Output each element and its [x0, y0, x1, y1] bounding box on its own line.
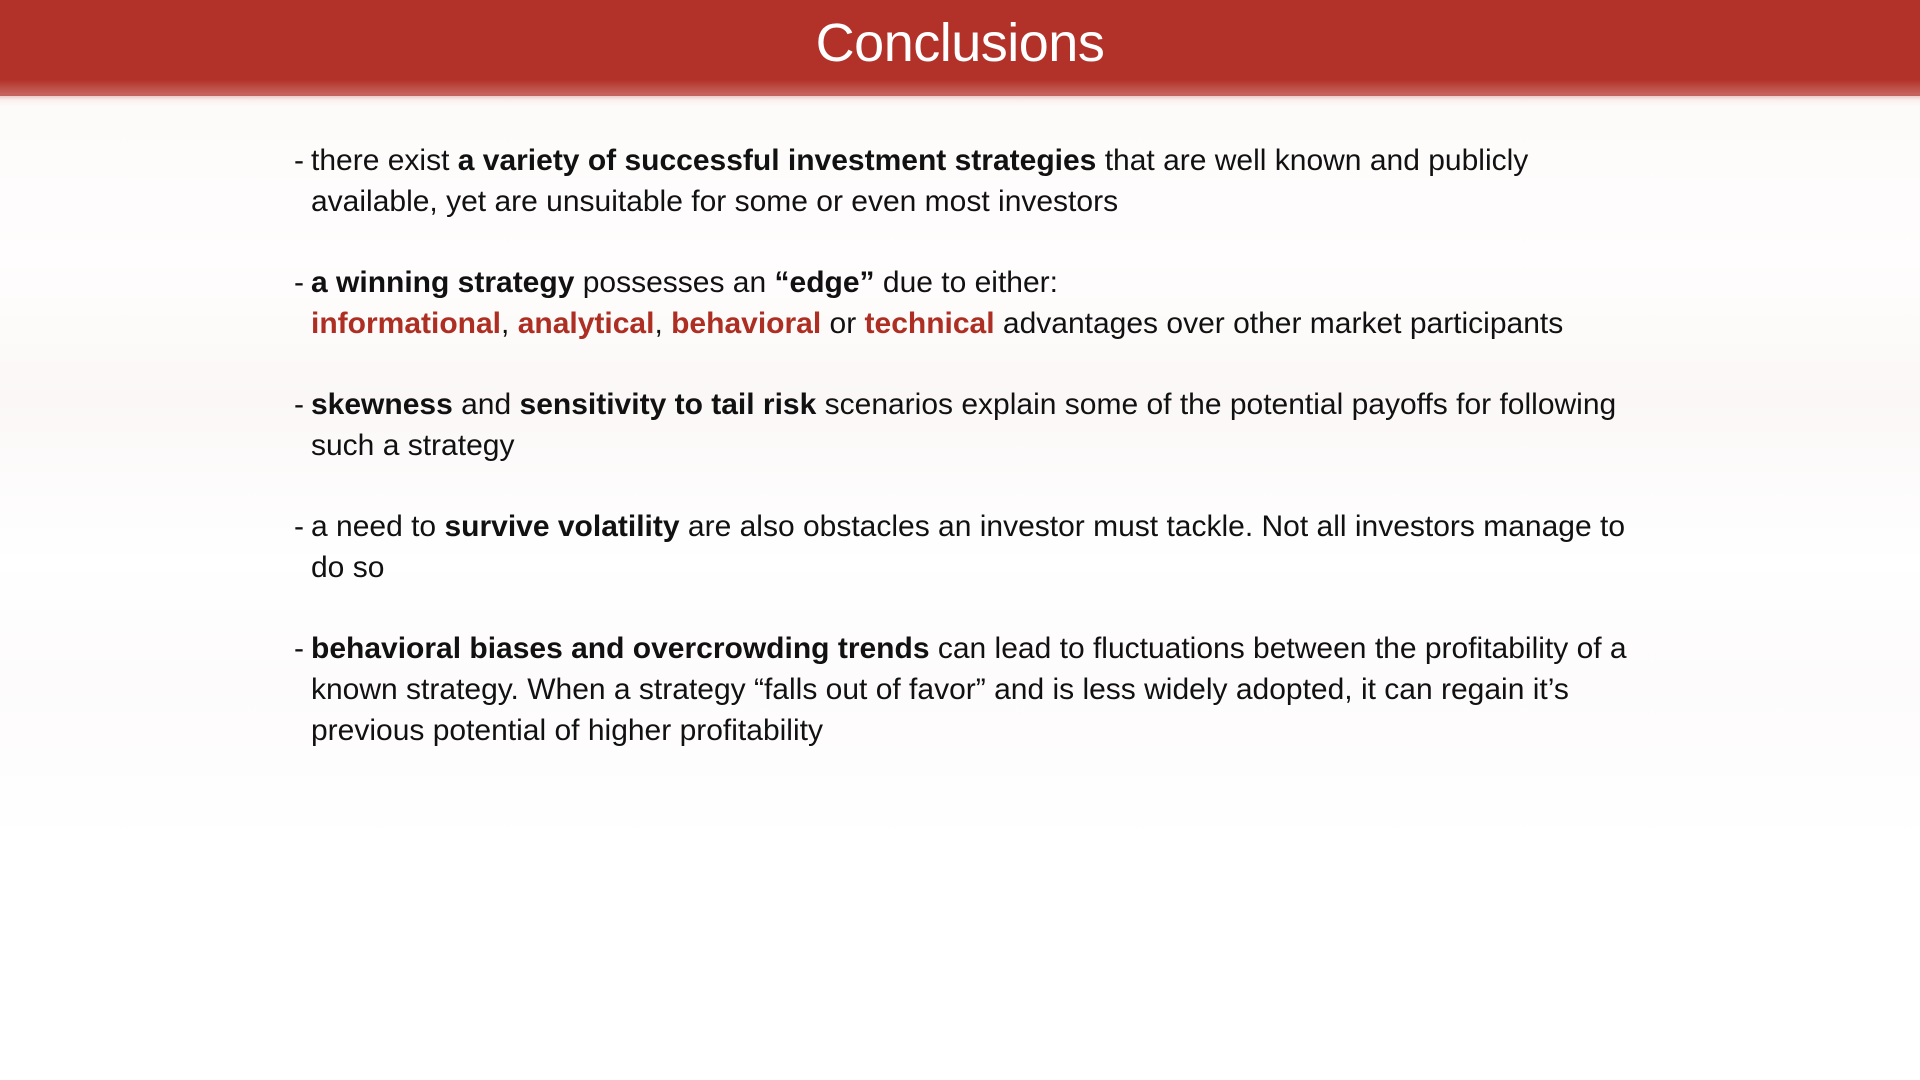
- bullet-plain-text: a need to: [311, 510, 444, 543]
- bullet-item: -there exist a variety of successful inv…: [294, 140, 1664, 222]
- bullet-item: -a winning strategy possesses an “edge” …: [294, 262, 1664, 344]
- bullet-text: there exist a variety of successful inve…: [311, 140, 1645, 222]
- bullet-list: -there exist a variety of successful inv…: [294, 140, 1664, 751]
- bullet-plain-text: advantages over other market participant…: [995, 307, 1564, 340]
- bullet-text: behavioral biases and overcrowding trend…: [311, 628, 1645, 751]
- bullet-sub-line: informational, analytical, behavioral or…: [311, 303, 1645, 344]
- bullet-emphasis-text: sensitivity to tail risk: [520, 388, 817, 421]
- bullet-marker-dash-icon: -: [294, 140, 311, 181]
- bullet-plain-text: ,: [654, 307, 671, 340]
- bullet-item: -a need to survive volatility are also o…: [294, 506, 1664, 588]
- bullet-text: skewness and sensitivity to tail risk sc…: [311, 384, 1645, 466]
- bullet-text: a winning strategy possesses an “edge” d…: [311, 262, 1645, 344]
- slide-title: Conclusions: [0, 0, 1920, 90]
- bullet-plain-text: possesses an: [574, 266, 774, 299]
- bullet-plain-text: there exist: [311, 144, 458, 177]
- bullet-emphasis-text: skewness: [311, 388, 453, 421]
- bullet-plain-text: and: [453, 388, 520, 421]
- bullet-item: -behavioral biases and overcrowding tren…: [294, 628, 1664, 751]
- bullet-text: a need to survive volatility are also ob…: [311, 506, 1645, 588]
- bullet-emphasis-text: a winning strategy: [311, 266, 574, 299]
- bullet-plain-text: ,: [501, 307, 518, 340]
- bullet-emphasis-text: behavioral biases and overcrowding trend…: [311, 632, 930, 665]
- bullet-accent-text: technical: [865, 307, 995, 340]
- bullet-emphasis-text: survive volatility: [444, 510, 679, 543]
- bullet-plain-text: or: [821, 307, 864, 340]
- bullet-emphasis-text: a variety of successful investment strat…: [458, 144, 1097, 177]
- presentation-slide: Conclusions -there exist a variety of su…: [0, 0, 1920, 1080]
- bullet-marker-dash-icon: -: [294, 262, 311, 303]
- bullet-marker-dash-icon: -: [294, 628, 311, 669]
- bullet-emphasis-text: “edge”: [775, 266, 875, 299]
- bullet-item: -skewness and sensitivity to tail risk s…: [294, 384, 1664, 466]
- bullet-marker-dash-icon: -: [294, 384, 311, 425]
- bullet-accent-text: behavioral: [671, 307, 821, 340]
- bullet-plain-text: due to either:: [875, 266, 1058, 299]
- bullet-accent-text: informational: [311, 307, 501, 340]
- bullet-accent-text: analytical: [518, 307, 655, 340]
- bullet-marker-dash-icon: -: [294, 506, 311, 547]
